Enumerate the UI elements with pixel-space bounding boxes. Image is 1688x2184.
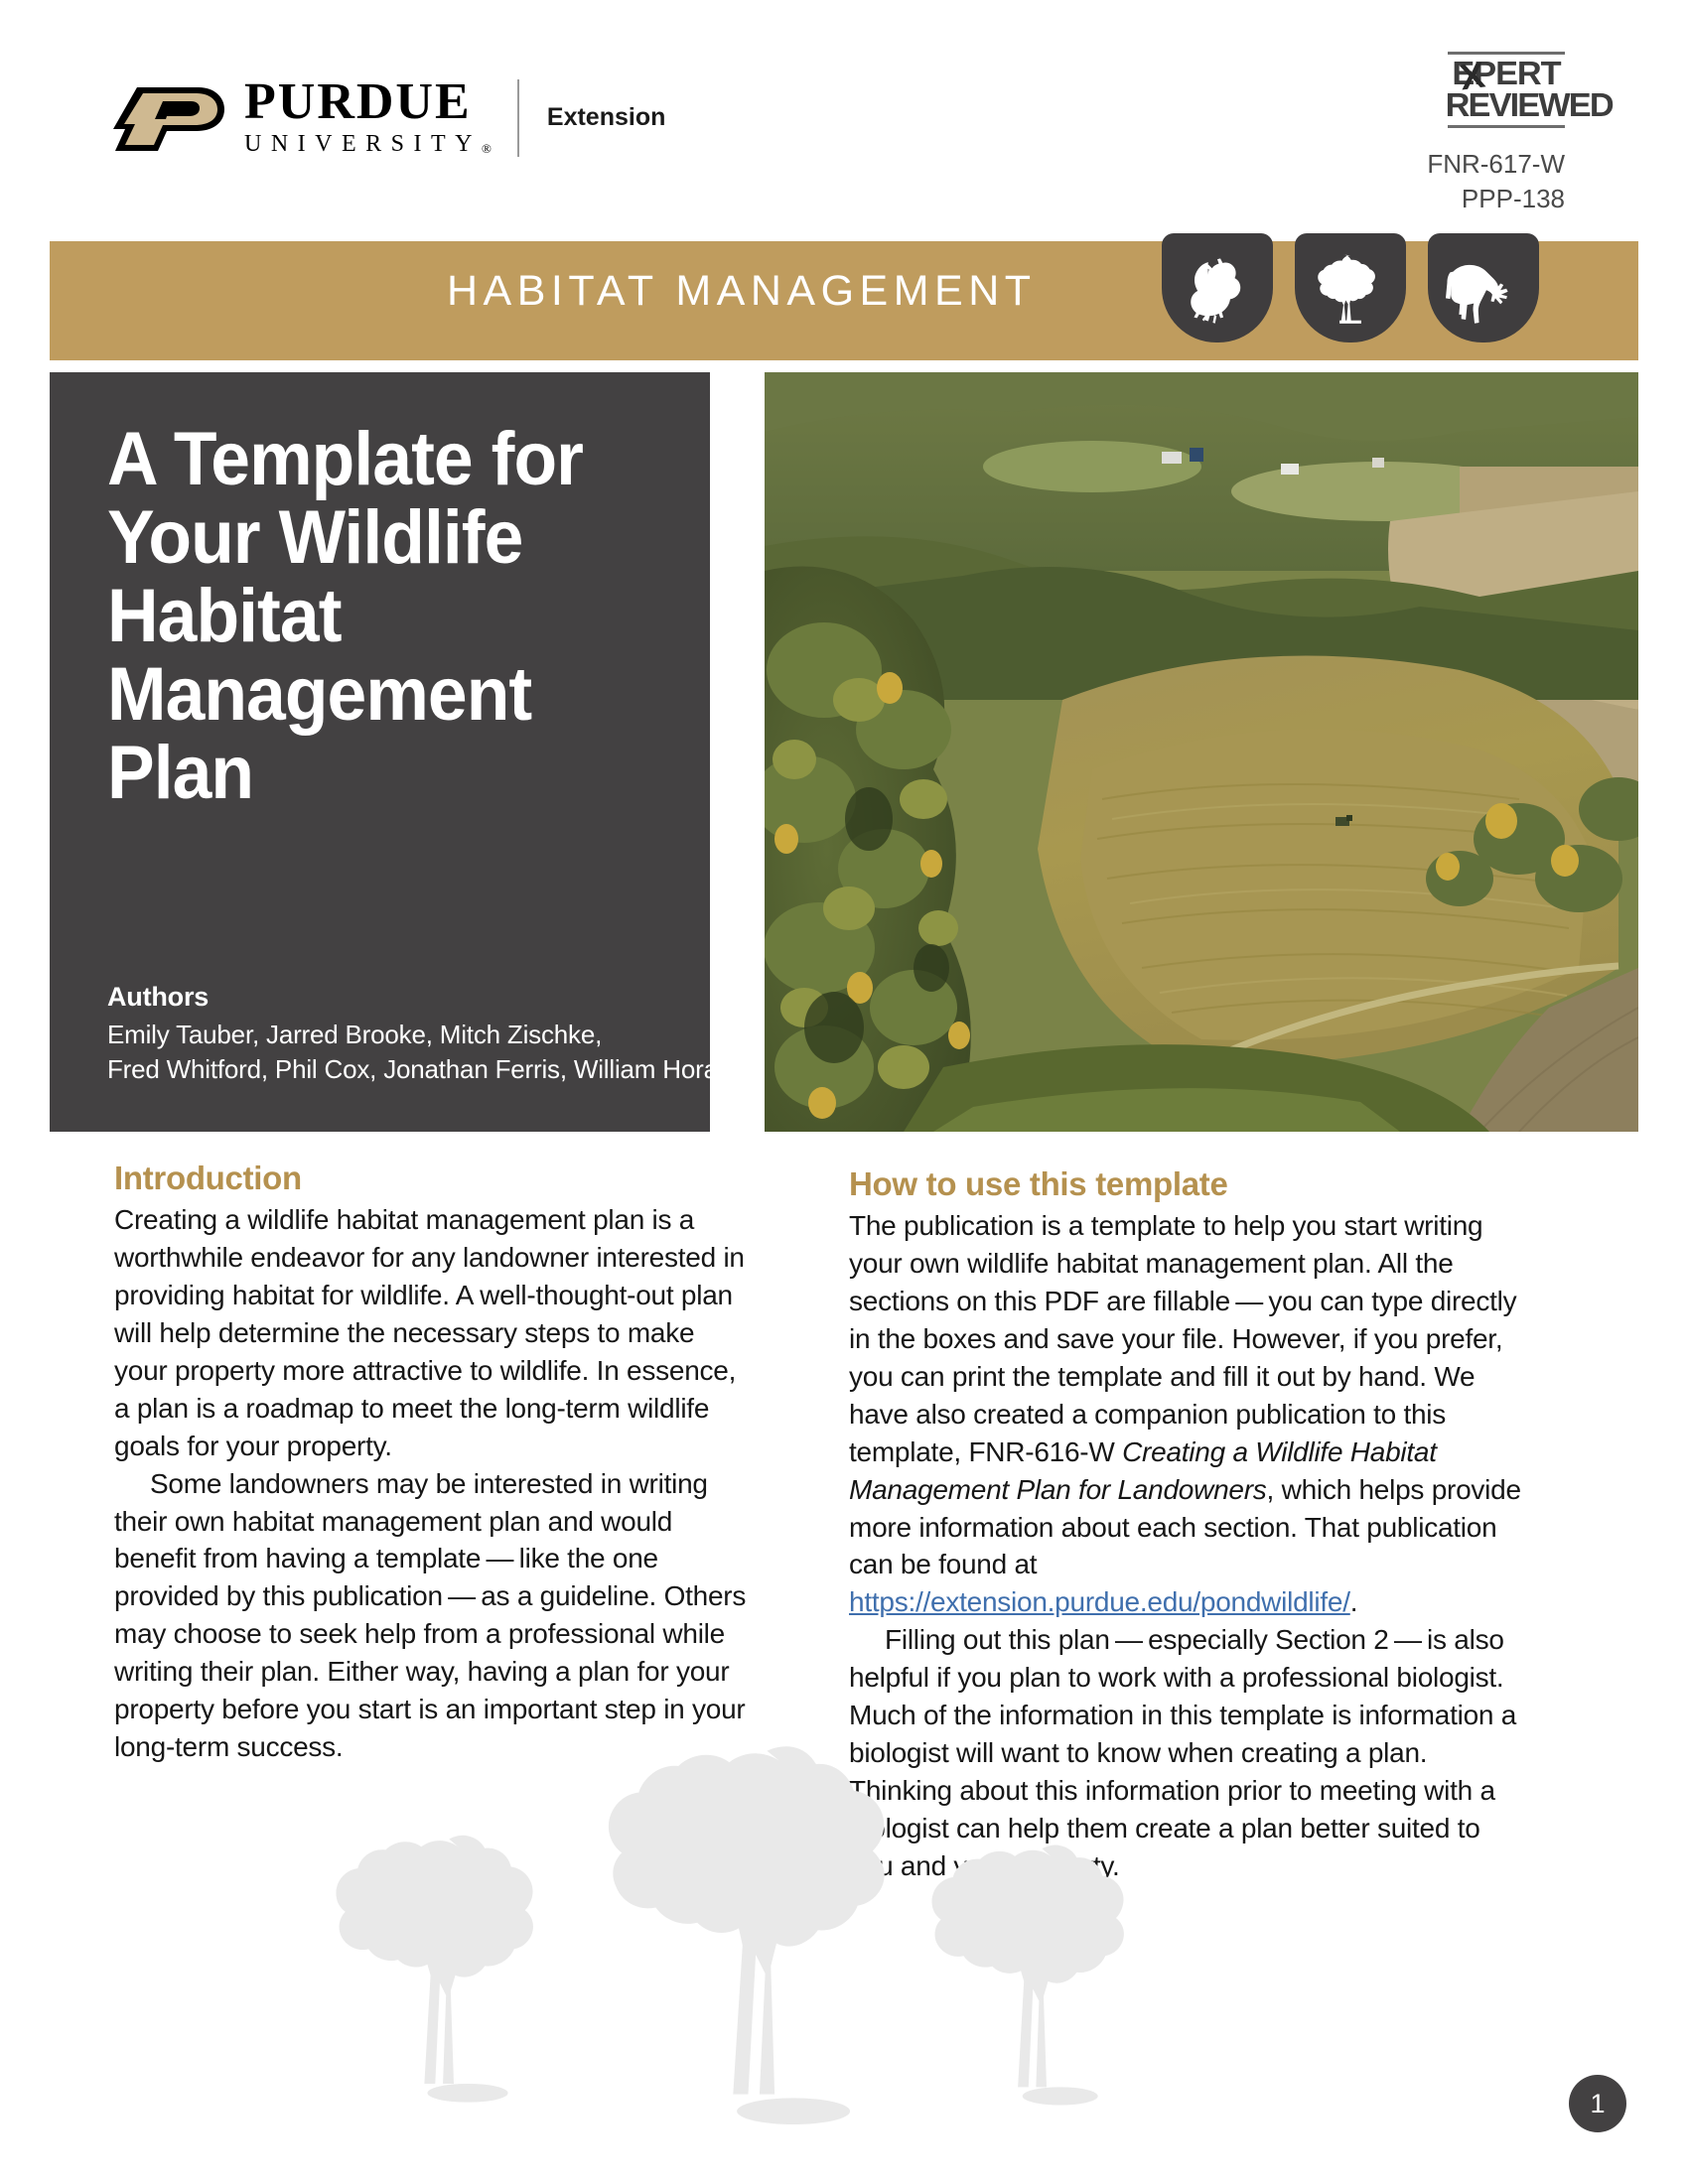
how-to-use-heading: How to use this template <box>849 1165 1524 1203</box>
authors-label: Authors <box>107 982 732 1013</box>
htu-text-c: . <box>1350 1586 1358 1617</box>
doc-code-fnr: FNR-617-W <box>1386 147 1565 182</box>
deer-badge <box>1428 233 1539 342</box>
purdue-wordmark: PURDUE UNIVERSITY® <box>244 77 492 159</box>
authors-line-2: Fred Whitford, Phil Cox, Jonathan Ferris… <box>107 1052 732 1086</box>
purdue-p-motion-mark <box>111 81 226 155</box>
expert-badge-line-2: REVIEWED <box>1446 89 1568 121</box>
expert-reviewed-badge: EPERT X REVIEWED <box>1448 52 1565 128</box>
document-codes: FNR-617-W PPP-138 <box>1386 147 1565 216</box>
authors-line-1: Emily Tauber, Jarred Brooke, Mitch Zisch… <box>107 1018 732 1051</box>
extension-purdue-link[interactable]: https://extension.purdue.edu/pondwildlif… <box>849 1586 1350 1617</box>
page-number-badge: 1 <box>1569 2075 1626 2132</box>
page-title: A Template for Your Wildlife Habitat Man… <box>107 420 620 812</box>
introduction-paragraph-2: Some landowners may be interested in wri… <box>114 1465 750 1767</box>
page-header: PURDUE UNIVERSITY® Extension EPERT X REV… <box>0 0 1688 241</box>
hero-section: A Template for Your Wildlife Habitat Man… <box>50 372 1638 1132</box>
purdue-logo: PURDUE UNIVERSITY® Extension <box>111 77 665 159</box>
tree-watermark <box>298 1727 1291 2144</box>
three-trees-watermark-icon <box>298 1727 1291 2144</box>
turkey-badge <box>1162 233 1273 342</box>
logo-divider <box>517 79 519 157</box>
extension-label: Extension <box>547 103 665 132</box>
tree-badge <box>1295 233 1406 342</box>
deer-icon <box>1443 249 1524 327</box>
turkey-icon <box>1180 250 1255 326</box>
registered-mark: ® <box>482 141 492 156</box>
introduction-paragraph-1: Creating a wildlife habitat management p… <box>114 1201 750 1465</box>
hero-photo <box>765 372 1638 1132</box>
badge-rule-bottom <box>1448 125 1565 128</box>
tree-icon <box>1312 249 1389 327</box>
banner-title: HABITAT MANAGEMENT <box>447 267 1037 316</box>
expert-badge-line-1: EPERT X <box>1446 58 1568 89</box>
wordmark-university: UNIVERSITY® <box>244 130 492 159</box>
htu-text-a: The publication is a template to help yo… <box>849 1210 1516 1467</box>
wordmark-purdue: PURDUE <box>244 77 492 128</box>
how-to-use-paragraph-1: The publication is a template to help yo… <box>849 1207 1524 1621</box>
aerial-field-photo <box>765 372 1638 1132</box>
authors-block: Authors Emily Tauber, Jarred Brooke, Mit… <box>107 982 732 1086</box>
column-introduction: Introduction Creating a wildlife habitat… <box>114 1160 750 1766</box>
habitat-management-banner: HABITAT MANAGEMENT <box>50 241 1638 360</box>
banner-badge-group <box>1162 233 1539 342</box>
introduction-heading: Introduction <box>114 1160 750 1197</box>
doc-code-ppp: PPP-138 <box>1386 182 1565 216</box>
title-box: A Template for Your Wildlife Habitat Man… <box>50 372 710 1132</box>
